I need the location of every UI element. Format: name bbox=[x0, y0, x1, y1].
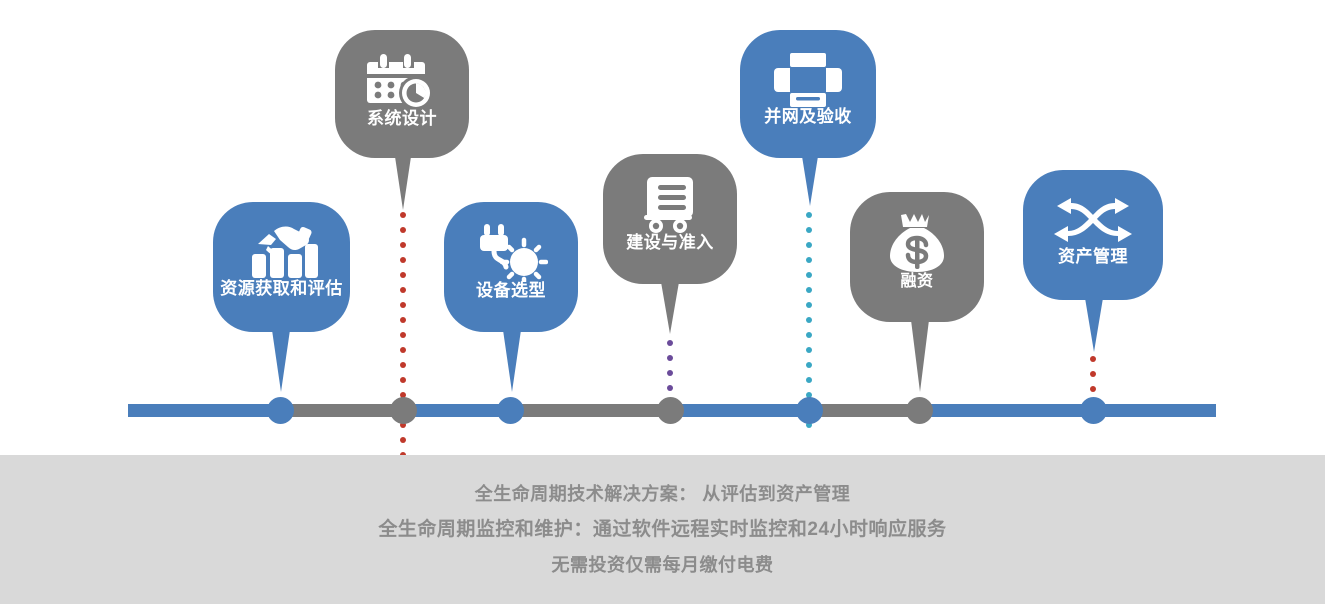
timeline-track bbox=[128, 404, 1216, 417]
connector-tail-grid-connection-acceptance bbox=[801, 150, 819, 206]
timeline-segment bbox=[280, 404, 403, 417]
connector-tail-financing bbox=[911, 320, 929, 392]
timeline-segment bbox=[809, 404, 919, 417]
timeline-node-system-design[interactable] bbox=[390, 397, 417, 424]
step-bubble-construction-access[interactable]: 建设与准入 bbox=[603, 154, 737, 284]
timeline-node-construction-access[interactable] bbox=[657, 397, 684, 424]
timeline-node-financing[interactable] bbox=[906, 397, 933, 424]
step-label-asset-management: 资产管理 bbox=[1058, 248, 1128, 265]
summary-line-1: 全生命周期技术解决方案： 从评估到资产管理 bbox=[475, 485, 851, 503]
connector-tail-system-design bbox=[394, 150, 412, 210]
cart-crate-icon bbox=[603, 174, 737, 234]
infographic-canvas: 资源获取和评估 bbox=[0, 0, 1325, 604]
connector-dots-system-design bbox=[400, 212, 406, 482]
step-bubble-system-design[interactable]: 系统设计 bbox=[335, 30, 469, 158]
step-bubble-resource-assessment[interactable]: 资源获取和评估 bbox=[213, 202, 350, 332]
connector-tail-construction-access bbox=[661, 282, 679, 334]
connector-tail-equipment-selection bbox=[503, 330, 521, 392]
step-bubble-asset-management[interactable]: 资产管理 bbox=[1023, 170, 1163, 300]
summary-line-2: 全生命周期监控和维护：通过软件远程实时监控和24小时响应服务 bbox=[378, 520, 946, 539]
step-bubble-financing[interactable]: 融资 bbox=[850, 192, 984, 322]
summary-line-3: 无需投资仅需每月缴付电费 bbox=[552, 556, 774, 574]
handshake-barchart-icon bbox=[213, 222, 350, 280]
step-label-system-design: 系统设计 bbox=[367, 110, 437, 127]
timeline-segment bbox=[670, 404, 809, 417]
step-label-resource-assessment: 资源获取和评估 bbox=[220, 280, 343, 297]
printer-icon bbox=[740, 52, 876, 108]
timeline-segment bbox=[919, 404, 1216, 417]
timeline-node-equipment-selection[interactable] bbox=[497, 397, 524, 424]
timeline-node-grid-connection-acceptance[interactable] bbox=[796, 397, 823, 424]
shuffle-arrows-icon bbox=[1023, 192, 1163, 248]
step-label-construction-access: 建设与准入 bbox=[626, 234, 714, 251]
step-bubble-equipment-selection[interactable]: 设备选型 bbox=[444, 202, 578, 332]
calendar-clock-icon bbox=[335, 50, 469, 110]
step-bubble-grid-connection-acceptance[interactable]: 并网及验收 bbox=[740, 30, 876, 158]
timeline-segment bbox=[403, 404, 510, 417]
connector-tail-asset-management bbox=[1085, 298, 1103, 352]
timeline-node-asset-management[interactable] bbox=[1080, 397, 1107, 424]
step-label-equipment-selection: 设备选型 bbox=[476, 282, 546, 299]
timeline-segment bbox=[510, 404, 670, 417]
plug-sun-icon bbox=[444, 222, 578, 282]
money-bag-icon bbox=[850, 212, 984, 274]
step-label-financing: 融资 bbox=[900, 274, 933, 290]
step-label-grid-connection-acceptance: 并网及验收 bbox=[764, 108, 852, 125]
timeline-node-resource-assessment[interactable] bbox=[267, 397, 294, 424]
connector-tail-resource-assessment bbox=[272, 330, 290, 392]
summary-banner: 全生命周期技术解决方案： 从评估到资产管理 全生命周期监控和维护：通过软件远程实… bbox=[0, 455, 1325, 604]
timeline-segment bbox=[128, 404, 280, 417]
